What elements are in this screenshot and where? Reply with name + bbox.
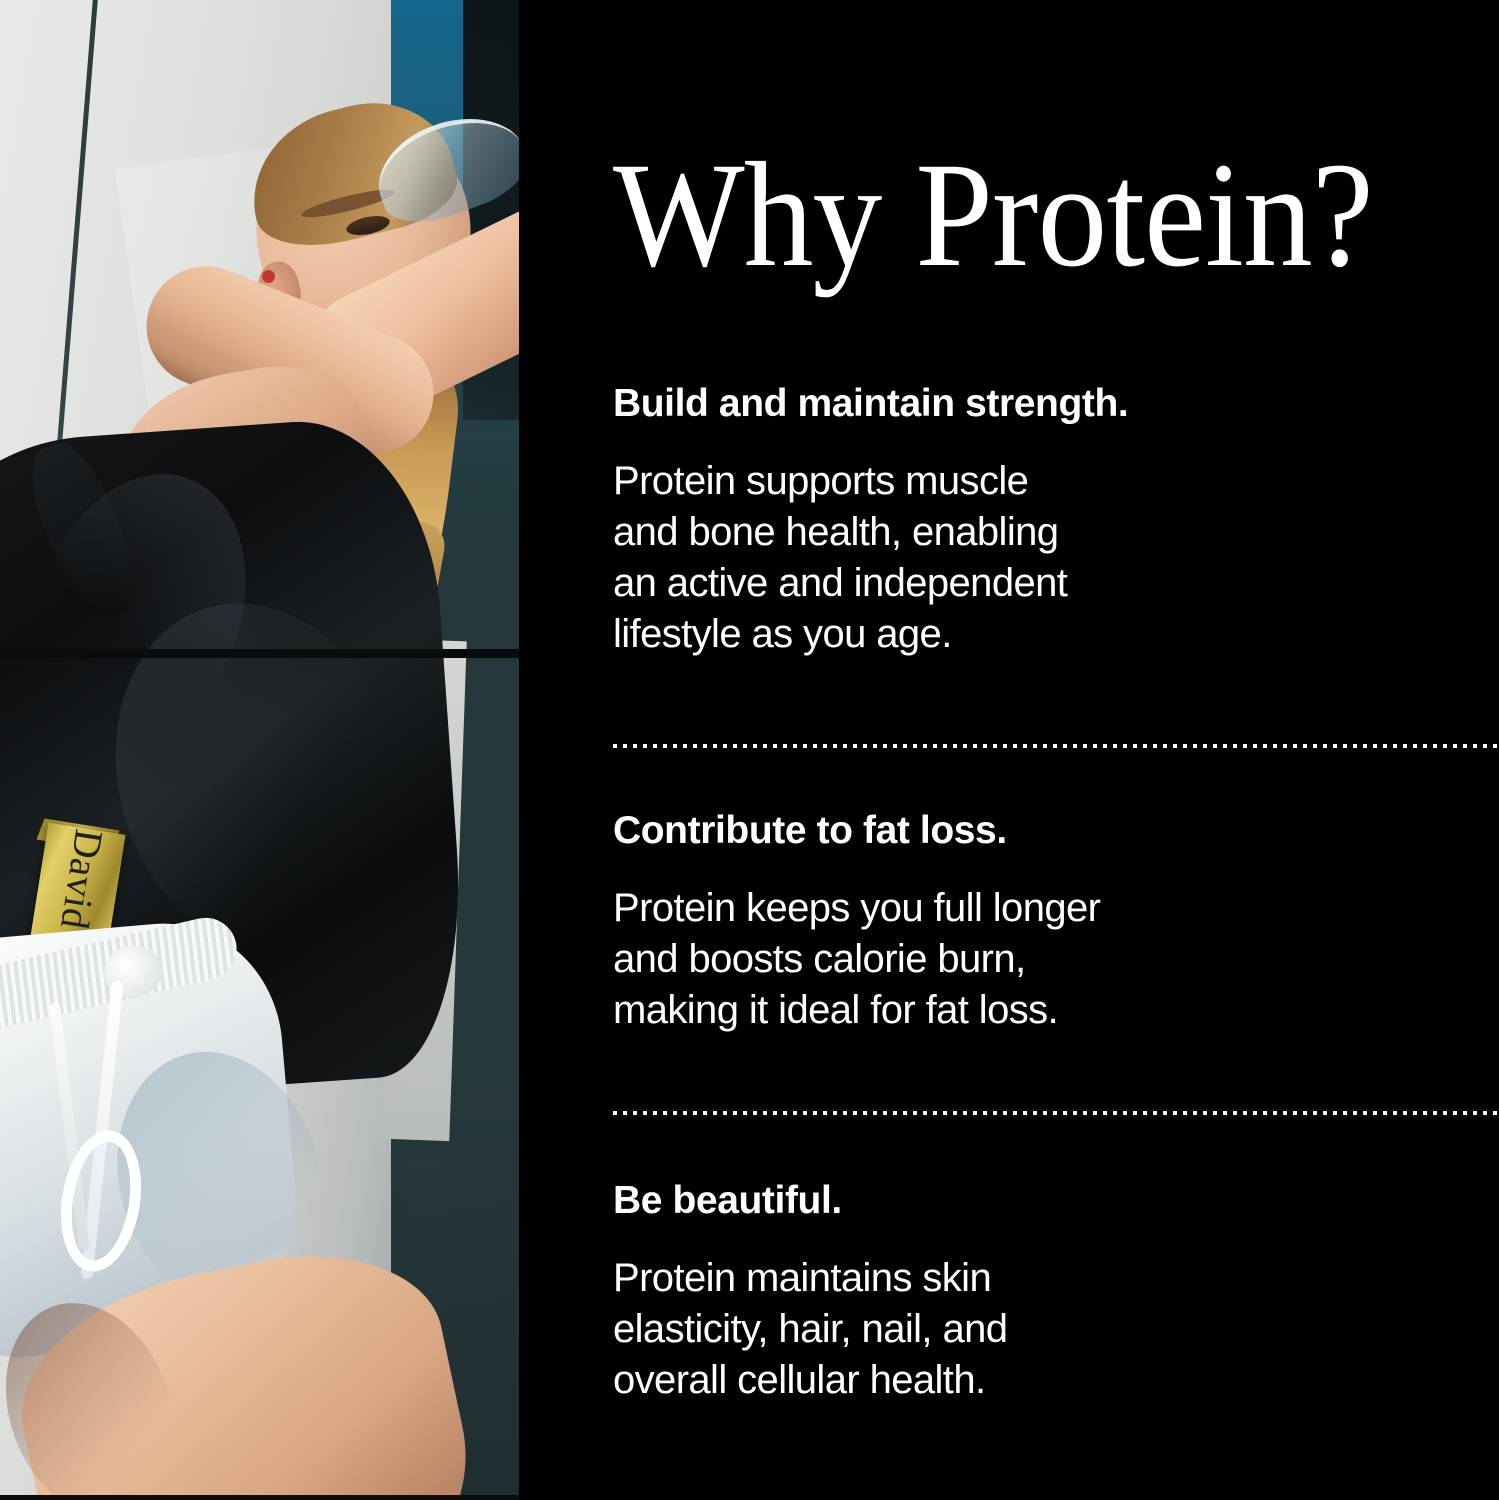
benefit-body: Protein keeps you full longer and boosts… <box>613 883 1473 1037</box>
why-protein-marketing-card: David Why Protein? Build and maintain st… <box>0 0 1499 1500</box>
benefit-body-line: an active and independent <box>613 561 1067 605</box>
benefit-body-line: Protein maintains skin <box>613 1256 991 1300</box>
benefit-body-line: and bone health, enabling <box>613 510 1058 554</box>
photo-grid-seam-horizontal <box>0 649 523 658</box>
benefit-body-line: and boosts calorie burn, <box>613 937 1026 981</box>
benefit-body-line: overall cellular health. <box>613 1358 985 1402</box>
section-divider <box>613 744 1499 748</box>
benefit-title: Contribute to fat loss. <box>613 810 1473 853</box>
benefit-body-line: making it ideal for fat loss. <box>613 988 1058 1032</box>
content-panel: Why Protein? Build and maintain strength… <box>523 0 1499 1500</box>
benefit-body-line: Protein supports muscle <box>613 459 1028 503</box>
benefit-body: Protein supports muscle and bone health,… <box>613 456 1473 661</box>
benefit-body-line: Protein keeps you full longer <box>613 886 1100 930</box>
benefit-title: Be beautiful. <box>613 1180 1473 1223</box>
benefit-body-line: elasticity, hair, nail, and <box>613 1307 1007 1351</box>
section-divider <box>613 1111 1499 1115</box>
benefit-body-line: lifestyle as you age. <box>613 612 952 656</box>
photo-bottom-seam <box>0 1495 523 1500</box>
benefit-title: Build and maintain strength. <box>613 383 1473 426</box>
hero-photo-panel: David <box>0 0 523 1500</box>
benefit-section-fat-loss: Contribute to fat loss. Protein keeps yo… <box>613 810 1473 1036</box>
benefit-body: Protein maintains skin elasticity, hair,… <box>613 1253 1473 1407</box>
page-title: Why Protein? <box>613 140 1373 290</box>
benefit-section-strength: Build and maintain strength. Protein sup… <box>613 383 1473 661</box>
earring <box>262 270 275 283</box>
benefit-section-beauty: Be beautiful. Protein maintains skin ela… <box>613 1180 1473 1406</box>
